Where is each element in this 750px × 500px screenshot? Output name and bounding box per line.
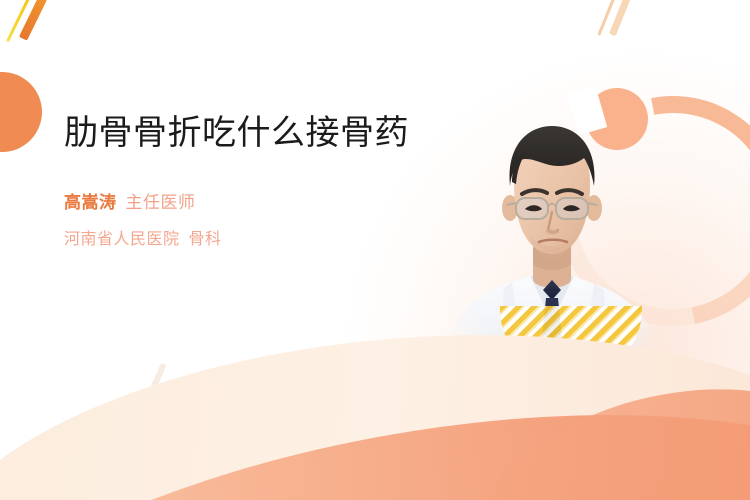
crescent-arc-notch bbox=[567, 87, 607, 136]
text-block: 肋骨骨折吃什么接骨药 高嵩涛主任医师 河南省人民医院骨科 bbox=[64, 112, 424, 252]
doctor-identity-line: 高嵩涛主任医师 bbox=[64, 190, 424, 216]
yellow-striped-half-disc-decoration bbox=[500, 306, 642, 380]
crescent-arc-cap-decoration bbox=[586, 88, 648, 150]
doctor-byline: 高嵩涛主任医师 河南省人民医院骨科 bbox=[64, 190, 424, 252]
department-name: 骨科 bbox=[189, 231, 222, 248]
doctor-name: 高嵩涛 bbox=[64, 193, 117, 212]
stripe-yellow-thin bbox=[6, 0, 37, 42]
crescent-arc-decoration bbox=[513, 51, 750, 370]
bottom-cream-wave-decoration bbox=[0, 300, 750, 500]
stripe-peach-thin bbox=[597, 0, 625, 36]
stripe-orange-thick bbox=[19, 0, 59, 41]
bottom-right-salmon-wave-decoration bbox=[436, 368, 750, 500]
hospital-name: 河南省人民医院 bbox=[64, 231, 180, 248]
bottom-left-diagonal-stripe-decoration bbox=[143, 363, 166, 406]
doctor-health-article-card: 肋骨骨折吃什么接骨药 高嵩涛主任医师 河南省人民医院骨科 bbox=[0, 0, 750, 500]
doctor-professional-title: 主任医师 bbox=[126, 193, 196, 212]
orange-circle-decoration bbox=[0, 72, 42, 152]
top-left-diagonal-stripes-decoration bbox=[24, 0, 94, 62]
doctor-portrait bbox=[438, 108, 666, 374]
article-title: 肋骨骨折吃什么接骨药 bbox=[64, 112, 424, 154]
bottom-salmon-wave-decoration bbox=[0, 341, 750, 500]
stripe-peach-thick bbox=[609, 0, 642, 36]
top-right-diagonal-stripes-decoration bbox=[614, 0, 674, 54]
doctor-affiliation-line: 河南省人民医院骨科 bbox=[64, 228, 424, 252]
